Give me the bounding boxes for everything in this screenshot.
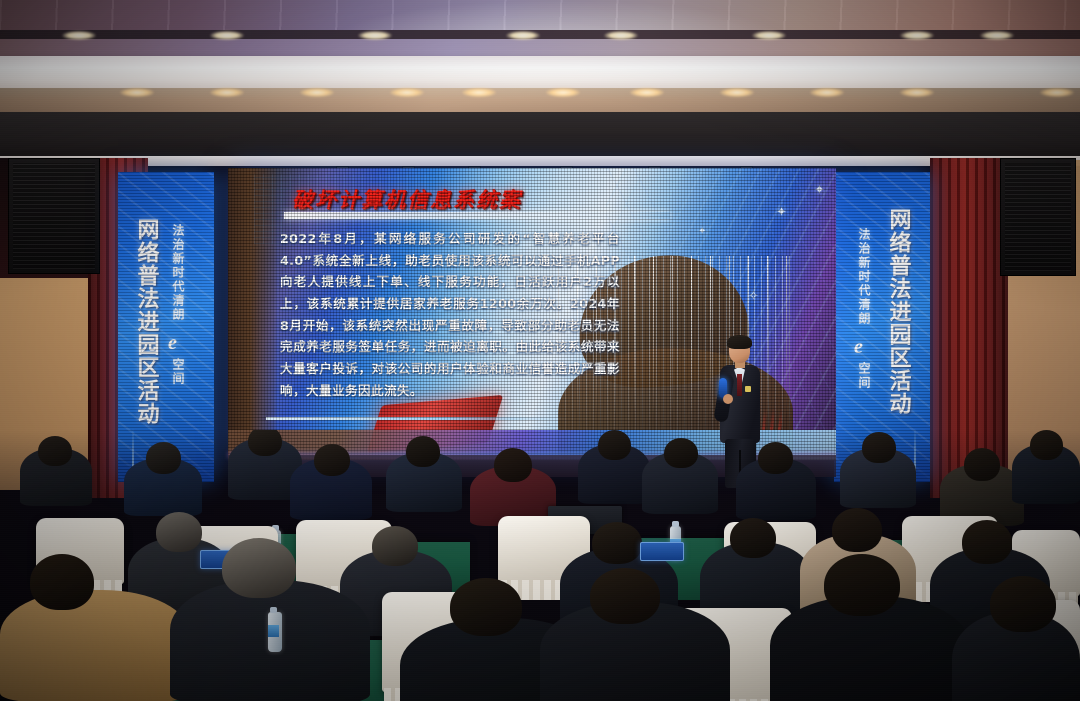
audience-head (598, 430, 631, 460)
ceiling-upper-panel (0, 0, 1080, 34)
ceiling-white-soffit (0, 56, 1080, 90)
audience-head (30, 554, 94, 610)
audience-head (146, 442, 181, 474)
ceiling-glow (330, 0, 790, 34)
audience-head (592, 522, 642, 564)
pa-speaker-right (1000, 158, 1076, 276)
presenter-hair (727, 335, 752, 349)
audience-head (406, 436, 440, 467)
pa-speaker-left (8, 158, 100, 274)
sparkle-icon: ✦ (776, 204, 787, 220)
audience-head (314, 444, 350, 476)
audience-head (962, 520, 1012, 564)
audience-head (156, 512, 202, 552)
audience-person-front (0, 590, 190, 701)
bottle-cap (270, 607, 277, 613)
audience-head (964, 448, 1000, 481)
audience-head (590, 568, 660, 624)
screen-title-underline (284, 212, 670, 219)
conference-hall-photo: 网络普法进园区活动 法治新时代 清朗 e 空间 网络普法进园区活动 法治新时代 … (0, 0, 1080, 701)
bottle-label (268, 625, 279, 637)
audience-area: 云云 (0, 430, 1080, 701)
audience-head (990, 576, 1056, 632)
water-bottle (268, 612, 282, 652)
sparkle-icon: ✦ (814, 182, 825, 198)
audience-head (824, 554, 900, 616)
audience-head (862, 432, 896, 463)
presenter-lapel-badge (745, 386, 751, 392)
screen-case-title: 破坏计算机信息系统案 (292, 184, 722, 214)
presenter-tie (737, 374, 742, 396)
sparkle-icon: ✧ (748, 288, 759, 304)
audience-head (372, 526, 418, 566)
screen-case-body-text: 2022年8月，某网络服务公司研发的“智慧养老平台4.0”系统全新上线，助老员使… (280, 228, 620, 401)
sparkle-icon: ✦ (698, 226, 706, 237)
bottle-cap (672, 521, 679, 527)
audience-head (730, 518, 776, 558)
audience-head (222, 538, 296, 598)
audience-head (832, 508, 882, 552)
audience-head (494, 448, 532, 482)
screen-bottom-rule (266, 417, 566, 420)
presenter-hand (723, 394, 733, 404)
audience-head (450, 578, 522, 636)
audience-head (758, 442, 793, 474)
ceiling-white-lip (0, 156, 1080, 166)
audience-head (248, 430, 282, 456)
audience-head (1030, 430, 1063, 460)
audience-head (38, 436, 72, 466)
ceiling-black-recess (0, 112, 1080, 158)
name-placard (640, 542, 684, 561)
audience-head (664, 438, 698, 468)
